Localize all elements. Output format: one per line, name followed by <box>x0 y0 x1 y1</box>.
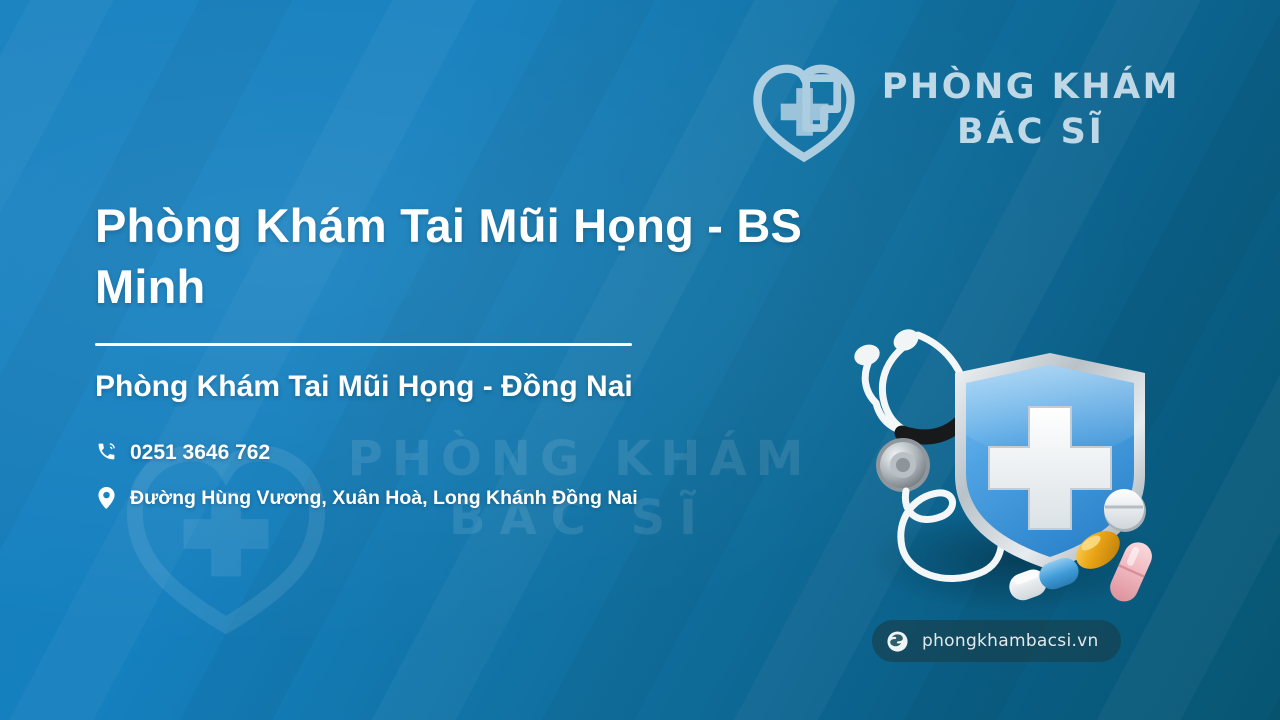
brand-logo-line1: PHÒNG KHÁM <box>882 67 1180 107</box>
hero-copy: Phòng Khám Tai Mũi Họng - BS Minh Phòng … <box>95 196 815 528</box>
heart-medical-cross-logo-icon <box>748 56 860 164</box>
phone-call-icon <box>95 438 117 462</box>
stethoscope-chestpiece <box>876 438 930 492</box>
brand-logo-line2: BÁC SĨ <box>882 110 1180 155</box>
website-url: phongkhambacsi.vn <box>922 631 1099 651</box>
contact-address-row[interactable]: Đường Hùng Vương, Xuân Hoà, Long Khánh Đ… <box>95 484 815 512</box>
hero-subtitle: Phòng Khám Tai Mũi Họng - Đồng Nai <box>95 368 815 406</box>
page-title: Phòng Khám Tai Mũi Họng - BS Minh <box>95 196 815 317</box>
brand-logo-text: PHÒNG KHÁM BÁC SĨ <box>882 65 1180 155</box>
globe-icon <box>886 630 909 653</box>
contact-block: 0251 3646 762 Đường Hùng Vương, Xuân Hoà… <box>95 438 815 513</box>
brand-logo: PHÒNG KHÁM BÁC SĨ <box>748 56 1180 164</box>
clinic-banner: PHÒNG KHÁM BÁC SĨ PHÒNG KHÁM BÁC SĨ Phòn… <box>0 0 1280 720</box>
contact-address-value: Đường Hùng Vương, Xuân Hoà, Long Khánh Đ… <box>130 484 638 512</box>
stethoscope <box>865 335 968 433</box>
medical-shield-stethoscope-pills-illustration <box>840 315 1180 620</box>
contact-phone-row[interactable]: 0251 3646 762 <box>95 438 815 468</box>
contact-phone-value: 0251 3646 762 <box>130 438 270 468</box>
divider <box>95 343 632 346</box>
map-pin-icon <box>95 484 117 509</box>
website-badge[interactable]: phongkhambacsi.vn <box>872 620 1121 662</box>
